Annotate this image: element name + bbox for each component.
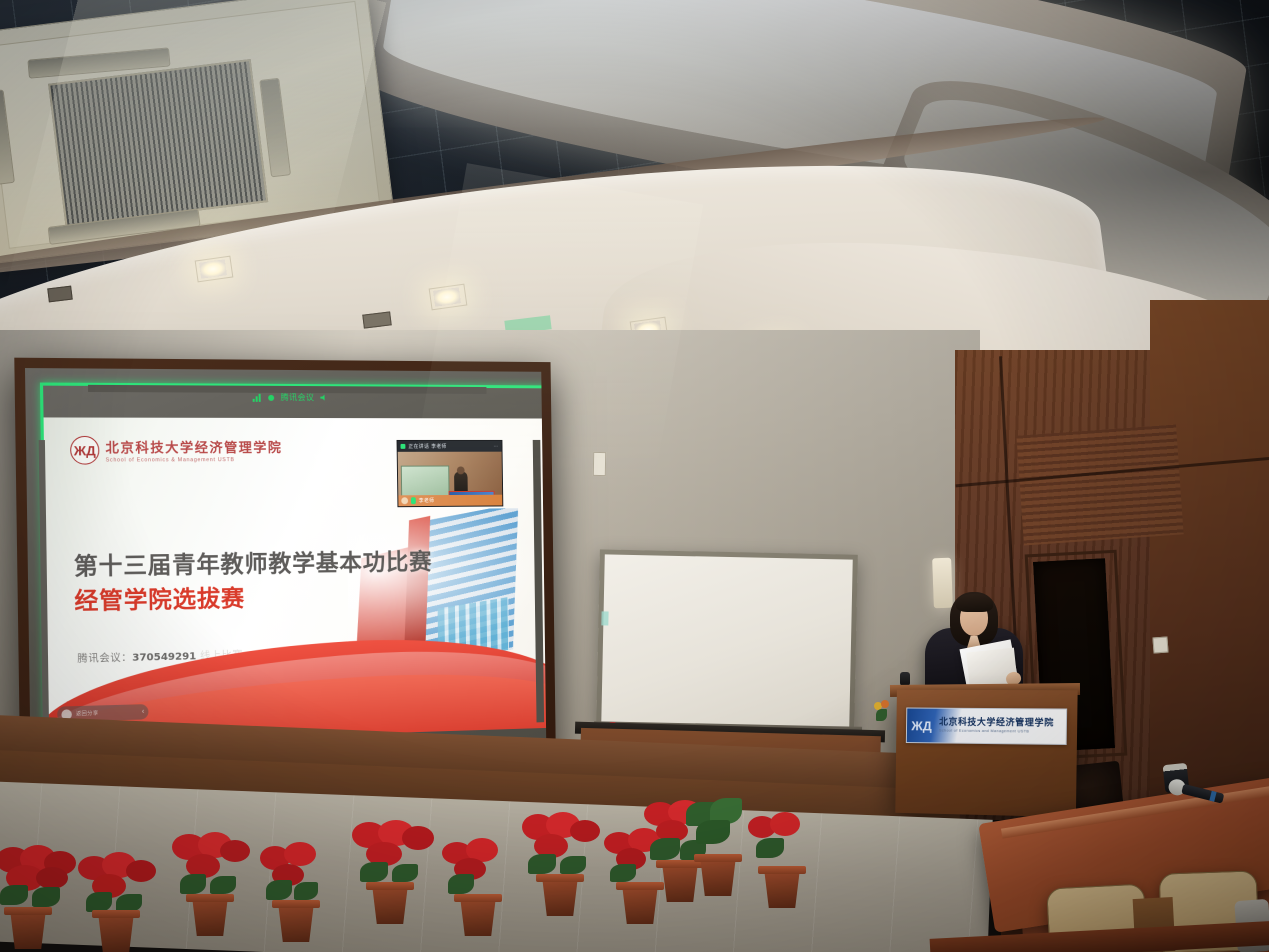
podium-side-flower (872, 700, 892, 722)
pip-video-feed (398, 452, 503, 496)
speaker-hair-front (956, 594, 993, 612)
record-dot-icon (267, 392, 276, 401)
microphone-icon (411, 497, 416, 504)
whiteboard-frame (596, 549, 858, 734)
whiteboard-surface[interactable] (601, 554, 853, 729)
lecture-hall-photo: 腾讯会议 ЖД 北京科技大学经济管理学院 School of Economics… (0, 0, 1269, 952)
plant-6 (438, 838, 528, 936)
ceiling-vent-small (47, 286, 73, 303)
slide-title-line2: 经管学院选拔赛 (74, 579, 245, 616)
whiteboard-magnet (601, 611, 608, 625)
slide-logo: ЖД 北京科技大学经济管理学院 School of Economics & Ma… (70, 436, 283, 465)
pip-participant-name: 李老师 (419, 497, 435, 504)
podium-sign: ЖД 北京科技大学经济管理学院 School of Economics and … (906, 708, 1067, 746)
wood-slat-panel (1016, 425, 1183, 546)
podium-sign-en: School of Economics and Management USTB (939, 729, 1066, 734)
slide-building-photo (347, 508, 547, 659)
plant-3 (168, 832, 262, 936)
plant-5 (346, 820, 444, 924)
podium-sign-cn: 北京科技大学经济管理学院 (939, 718, 1066, 729)
wall-sconce-light (932, 558, 953, 609)
plant-1 (0, 845, 88, 949)
wall-light-switch[interactable] (1152, 636, 1168, 653)
podium: ЖД 北京科技大学经济管理学院 School of Economics and … (895, 690, 1077, 818)
signal-bars-icon (253, 392, 262, 401)
plant-7 (516, 812, 612, 916)
slide-logo-cn: 北京科技大学经济管理学院 (105, 437, 282, 456)
pip-status-label: 正在讲话 李老师 (408, 443, 447, 450)
speaking-indicator-icon (400, 444, 405, 449)
pip-name-bar: 李老师 (398, 495, 502, 507)
toolbar-button-label: 返回分享 (76, 710, 99, 718)
building-photo-highlight (347, 508, 547, 659)
slide-logo-en: School of Economics & Management USTB (106, 457, 283, 463)
plant-4 (256, 842, 346, 942)
podium-sign-logo-icon: ЖД (907, 718, 936, 733)
avatar-icon (401, 497, 408, 504)
ustb-seal-icon: ЖД (70, 436, 100, 465)
participant-video-tile[interactable]: 正在讲话 李老师 ⋯ 李老师 (397, 440, 504, 507)
plant-11 (744, 812, 828, 908)
slide-title-line1: 第十三届青年教师教学基本功比赛 (74, 542, 433, 581)
pip-person-head (457, 466, 465, 474)
chevron-left-icon[interactable]: ‹ (142, 708, 145, 715)
wall-bracket (593, 452, 606, 476)
meeting-id-prefix: 腾讯会议： (77, 653, 132, 665)
wood-panel-wall-right (1150, 300, 1269, 840)
more-options-icon[interactable]: ⋯ (493, 443, 498, 449)
speaker-icon (319, 393, 328, 402)
plant-2 (76, 852, 168, 952)
pip-status-bar: 正在讲话 李老师 ⋯ (398, 441, 502, 452)
meeting-app-name: 腾讯会议 (281, 391, 315, 402)
projection-screen[interactable]: 腾讯会议 ЖД 北京科技大学经济管理学院 School of Economics… (25, 368, 547, 777)
presentation-slide: ЖД 北京科技大学经济管理学院 School of Economics & Ma… (40, 417, 546, 743)
